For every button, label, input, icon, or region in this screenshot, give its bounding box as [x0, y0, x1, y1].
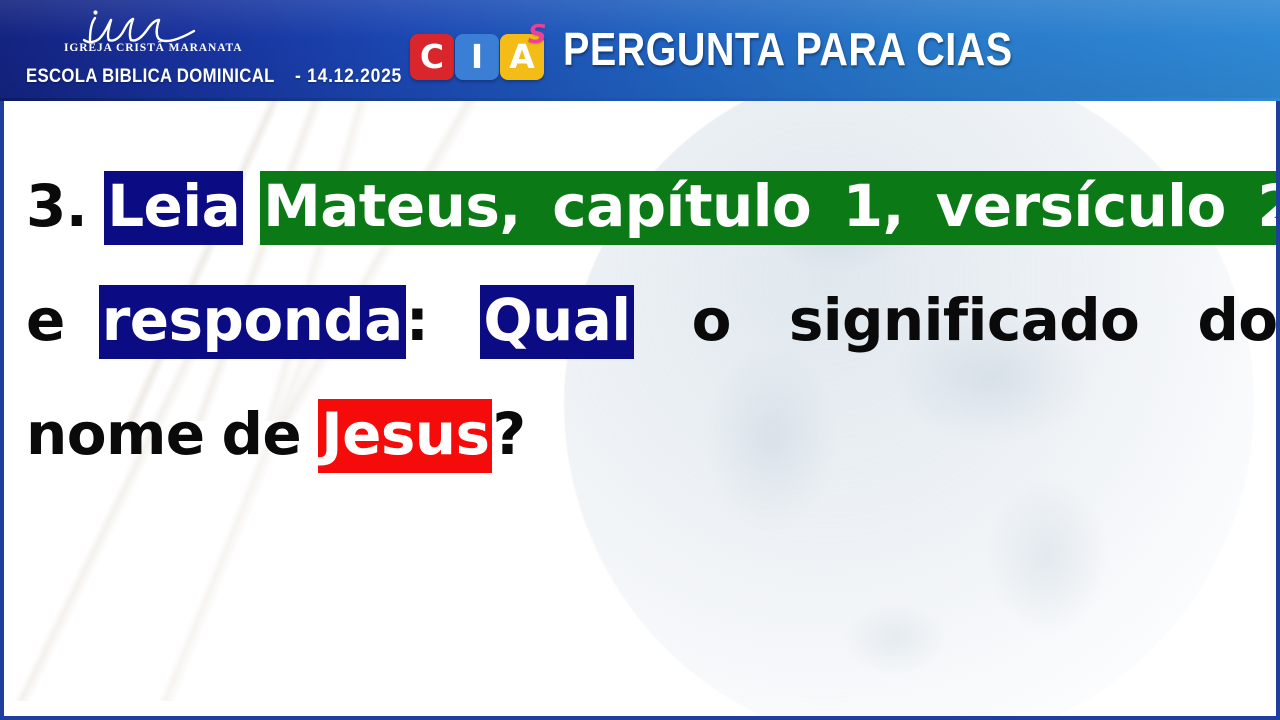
slide-header: IGREJA CRISTÃ MARANATA ESCOLA BIBLICA DO…	[0, 0, 1280, 101]
word-significado: significado	[789, 263, 1140, 377]
highlight-jesus: Jesus	[318, 399, 492, 473]
question-line-3: nomedeJesus?	[24, 377, 1252, 491]
word-o: o	[692, 263, 731, 377]
question-mark: ?	[492, 377, 525, 491]
question-line-2: eresponda:Qualosignificadodo	[24, 263, 1252, 377]
highlight-qual: Qual	[480, 285, 633, 359]
highlight-leia: Leia	[104, 171, 243, 245]
question-number: 3.	[26, 149, 87, 263]
green-gap-3	[907, 171, 933, 245]
slide: IGREJA CRISTÃ MARANATA ESCOLA BIBLICA DO…	[0, 0, 1280, 720]
cias-logo: C I A S	[410, 20, 550, 82]
brand-block: IGREJA CRISTÃ MARANATA ESCOLA BIBLICA DO…	[26, 4, 386, 96]
highlight-responda: responda	[99, 285, 406, 359]
word-nome: nome	[26, 377, 205, 491]
word-do: do	[1197, 263, 1277, 377]
school-label: ESCOLA BIBLICA DOMINICAL	[26, 66, 275, 88]
slide-body: 3.LeiaMateus, capítulo 1, versículo 21, …	[0, 101, 1280, 720]
school-date-line: ESCOLA BIBLICA DOMINICAL - 14.12.2025	[26, 66, 386, 88]
green-gap-2	[814, 171, 840, 245]
word-e: e	[26, 263, 65, 377]
green-gap-1	[524, 171, 550, 245]
highlight-versiculo: versículo	[933, 171, 1229, 245]
question-text: 3.LeiaMateus, capítulo 1, versículo 21, …	[24, 149, 1252, 491]
cias-cube-c: C	[410, 34, 454, 80]
highlight-mateus: Mateus,	[260, 171, 524, 245]
highlight-chapter-number: 1,	[840, 171, 907, 245]
date-label: - 14.12.2025	[295, 66, 402, 88]
cias-superscript-s: S	[528, 22, 547, 48]
highlight-verse-number: 21	[1254, 171, 1280, 245]
highlight-capitulo: capítulo	[549, 171, 814, 245]
question-line-1: 3.LeiaMateus, capítulo 1, versículo 21,	[24, 149, 1252, 263]
logo-wordmark: IGREJA CRISTÃ MARANATA	[64, 42, 224, 54]
colon: :	[406, 263, 429, 377]
cias-cube-i: I	[455, 34, 499, 80]
green-gap-4	[1229, 171, 1255, 245]
word-de: de	[222, 377, 302, 491]
header-title: PERGUNTA PARA CIAS	[563, 22, 1013, 76]
